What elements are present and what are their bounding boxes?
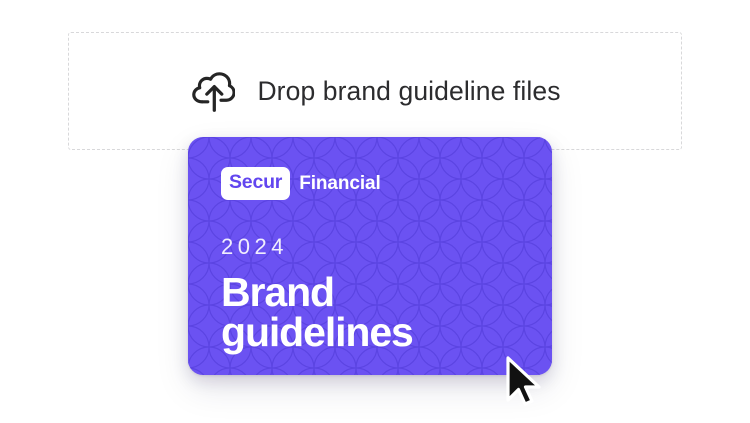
card-title: Brand guidelines <box>221 272 552 352</box>
logo-badge: Secur <box>221 167 290 200</box>
card-content: Secur Financial 2024 Brand guidelines <box>188 137 552 375</box>
cloud-upload-icon <box>189 67 235 115</box>
file-dropzone[interactable]: Drop brand guideline files <box>68 32 682 150</box>
card-year: 2024 <box>221 236 552 258</box>
card-title-line-1: Brand <box>221 272 552 312</box>
canvas: Drop brand guideline files <box>0 0 750 423</box>
logo-word-financial: Financial <box>299 174 380 193</box>
dropzone-label: Drop brand guideline files <box>257 78 560 105</box>
brand-logo-lockup: Secur Financial <box>221 167 552 200</box>
dropzone-content: Drop brand guideline files <box>69 33 681 149</box>
logo-badge-text: Secur <box>229 173 282 193</box>
brand-guidelines-card[interactable]: Secur Financial 2024 Brand guidelines <box>188 137 552 375</box>
card-title-line-2: guidelines <box>221 312 552 352</box>
